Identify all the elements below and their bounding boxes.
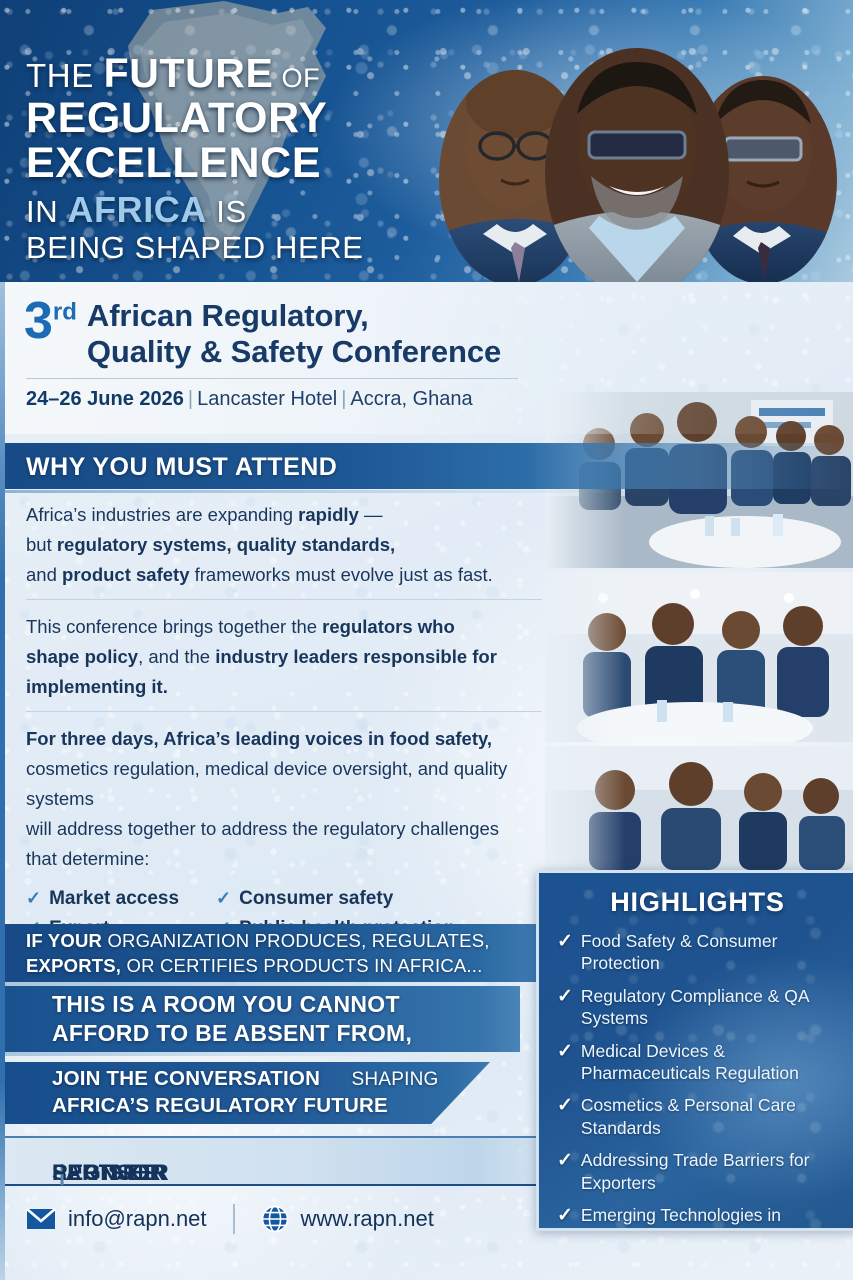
headline-line-3: EXCELLENCE [26, 141, 364, 186]
footer-divider [233, 1204, 235, 1234]
headline-line-2: REGULATORY [26, 96, 364, 141]
conference-title: 3rd African Regulatory, Quality & Safety… [24, 298, 501, 370]
globe-icon [261, 1205, 289, 1233]
speaker-portraits [423, 28, 853, 282]
check-icon: ✓ [557, 985, 573, 1009]
body-divider-1 [26, 599, 542, 600]
website-url[interactable]: www.rapn.net [301, 1206, 434, 1232]
left-accent-rule [0, 282, 5, 1280]
highlight-item: ✓Addressing Trade Barriers for Exporters [557, 1149, 842, 1194]
cta-gap-2 [0, 1052, 400, 1056]
highlight-item: ✓Emerging Technologies in Regulation [557, 1204, 842, 1231]
why-attend-heading: WHY YOU MUST ATTEND [26, 453, 337, 482]
hero-section: THE FUTURE OF REGULATORY EXCELLENCE IN A… [0, 0, 853, 282]
hero-headline: THE FUTURE OF REGULATORY EXCELLENCE IN A… [26, 52, 364, 264]
headline-line-5: BEING SHAPED HERE [26, 232, 364, 264]
highlight-item: ✓Cosmetics & Personal Care Standards [557, 1094, 842, 1139]
headline-line-4: IN AFRICA IS [26, 191, 364, 228]
paragraph-2: This conference brings together the regu… [26, 612, 556, 702]
check-icon: ✓ [216, 884, 231, 913]
highlight-item-label: Emerging Technologies in Regulation [581, 1204, 842, 1231]
why-attend-body: Africa’s industries are expanding rapidl… [26, 500, 556, 976]
title-divider [26, 378, 518, 379]
conference-name-line-1: African Regulatory, [87, 298, 501, 334]
cta-banner-join: JOIN THE CONVERSATION SHAPINGAFRICA’S RE… [0, 1062, 490, 1124]
highlight-item: ✓Food Safety & Consumer Protection [557, 930, 842, 975]
checklist-item: ✓Consumer safety [216, 884, 518, 915]
highlights-panel: HIGHLIGHTS ✓Food Safety & Consumer Prote… [536, 870, 853, 1231]
email-address[interactable]: info@rapn.net [68, 1206, 207, 1232]
check-icon: ✓ [26, 884, 41, 913]
headline-line-1: THE FUTURE OF [26, 52, 364, 95]
check-icon: ✓ [557, 1094, 573, 1118]
conference-photo-3 [545, 746, 853, 870]
cta-banner-join-text: JOIN THE CONVERSATION SHAPINGAFRICA’S RE… [0, 1066, 438, 1119]
contact-footer: info@rapn.net www.rapn.net [26, 1204, 434, 1234]
cta-banner-urgency: THIS IS A ROOM YOU CANNOTAFFORD TO BE AB… [0, 986, 520, 1052]
edition-ordinal: 3rd [24, 298, 77, 346]
highlights-title: HIGHLIGHTS [539, 887, 853, 918]
highlight-item: ✓Regulatory Compliance & QA Systems [557, 985, 842, 1030]
conference-poster: THE FUTURE OF REGULATORY EXCELLENCE IN A… [0, 0, 853, 1280]
cta-banner-urgency-text: THIS IS A ROOM YOU CANNOTAFFORD TO BE AB… [0, 990, 412, 1049]
conference-name: African Regulatory, Quality & Safety Con… [87, 298, 501, 370]
highlight-item-label: Addressing Trade Barriers for Exporters [581, 1149, 842, 1194]
highlight-item: ✓Medical Devices & Pharmaceuticals Regul… [557, 1040, 842, 1085]
body-divider-2 [26, 711, 542, 712]
highlight-item-label: Cosmetics & Personal Care Standards [581, 1094, 842, 1139]
cta-banner-audience: IF YOUR ORGANIZATION PRODUCES, REGULATES… [0, 924, 540, 982]
paragraph-1: Africa’s industries are expanding rapidl… [26, 500, 556, 590]
checklist-item-label: Consumer safety [239, 884, 393, 915]
why-attend-heading-bar: WHY YOU MUST ATTEND [0, 443, 853, 489]
event-dates: 24–26 June 2026 [26, 388, 184, 410]
checklist-item-label: Market access [49, 884, 179, 915]
check-icon: ✓ [557, 1149, 573, 1173]
highlight-item-label: Food Safety & Consumer Protection [581, 930, 842, 975]
event-details: 24–26 June 2026|Lancaster Hotel|Accra, G… [26, 388, 473, 411]
conference-title-block: 3rd African Regulatory, Quality & Safety… [0, 282, 853, 434]
check-icon: ✓ [557, 1040, 573, 1064]
check-icon: ✓ [557, 930, 573, 954]
register-sponsor-partner-bar[interactable]: REGISTER|SPONSOR|PARTNER [0, 1136, 560, 1186]
email-contact[interactable]: info@rapn.net [26, 1206, 207, 1232]
checklist-item: ✓Market access [26, 884, 216, 915]
check-icon: ✓ [557, 1204, 573, 1228]
highlight-item-label: Regulatory Compliance & QA Systems [581, 985, 842, 1030]
paragraph-3: For three days, Africa’s leading voices … [26, 724, 556, 874]
highlight-item-label: Medical Devices & Pharmaceuticals Regula… [581, 1040, 842, 1085]
event-city: Accra, Ghana [350, 388, 472, 410]
partner-link[interactable]: PARTNER [52, 1160, 161, 1186]
highlights-list: ✓Food Safety & Consumer Protection✓Regul… [539, 930, 853, 1231]
website-contact[interactable]: www.rapn.net [261, 1205, 434, 1233]
cta-banner-audience-text: IF YOUR ORGANIZATION PRODUCES, REGULATES… [0, 928, 490, 978]
event-venue: Lancaster Hotel [197, 388, 337, 410]
conference-photo-2 [545, 572, 853, 742]
envelope-icon [26, 1207, 56, 1231]
conference-name-line-2: Quality & Safety Conference [87, 334, 501, 370]
